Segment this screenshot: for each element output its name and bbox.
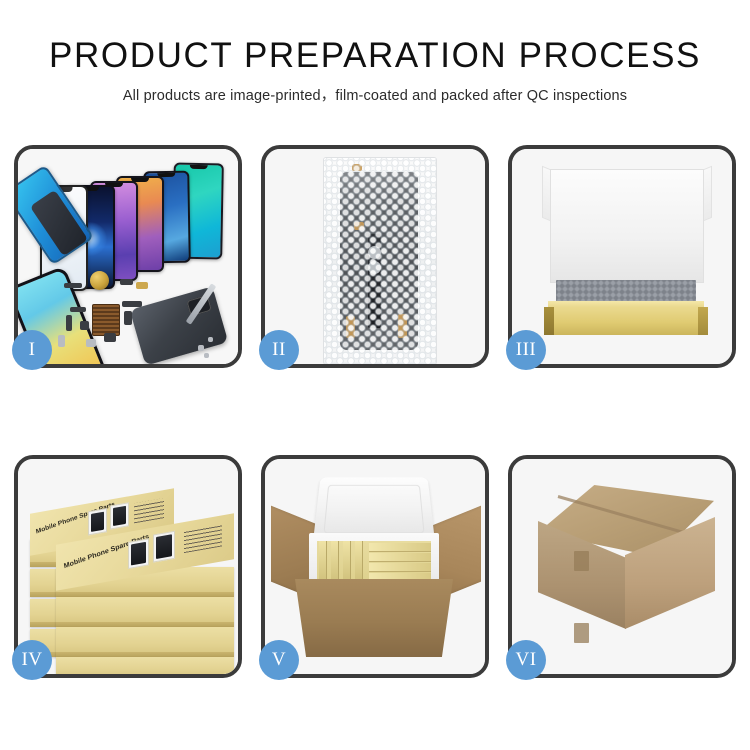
box-window-front-a — [128, 538, 149, 569]
box-window-front-b — [153, 531, 175, 563]
box-window-rear-b — [110, 502, 129, 529]
styrofoam-lid — [313, 477, 435, 540]
process-step-6[interactable]: VI — [508, 455, 736, 678]
carton-tape-upper — [574, 551, 589, 571]
part-flex-small — [120, 279, 133, 285]
page-subtitle: All products are image-printed，film-coat… — [0, 84, 750, 105]
step-1-image — [18, 149, 238, 364]
part-screw-b — [208, 337, 213, 342]
part-earpiece — [104, 333, 116, 342]
part-ribbon-cable — [122, 301, 142, 307]
box-white-foam-lid — [550, 169, 704, 283]
process-step-3[interactable]: III — [508, 145, 736, 368]
part-bracket-a — [70, 307, 86, 312]
stack-box-f3 — [56, 627, 234, 657]
box-stack: Mobile Phone Spare Parts Mobile Phone Sp… — [28, 475, 236, 671]
gold-coil-part — [90, 271, 109, 290]
bubble-texture — [324, 158, 436, 364]
page-title: PRODUCT PREPARATION PROCESS — [0, 38, 750, 73]
carton-body — [295, 579, 453, 657]
box-spec-lines-front — [184, 524, 222, 553]
part-camera-module — [80, 321, 89, 330]
part-gold-contact — [136, 282, 148, 289]
step-6-image — [512, 459, 732, 674]
step-5-image — [265, 459, 485, 674]
step-3-image — [512, 149, 732, 364]
step-badge-2: II — [259, 330, 299, 370]
bubble-wrap-bag — [323, 157, 437, 364]
box-spec-lines-rear — [134, 498, 164, 523]
step-badge-4: IV — [12, 640, 52, 680]
part-screw-a — [198, 345, 204, 351]
process-step-1[interactable]: I — [14, 145, 242, 368]
page-header: PRODUCT PREPARATION PROCESS All products… — [0, 0, 750, 105]
chip-array-part — [92, 304, 120, 336]
packed-retail-boxes — [317, 541, 431, 583]
stack-box-f4 — [56, 657, 234, 674]
part-speaker-mesh — [64, 283, 82, 288]
step-badge-5: V — [259, 640, 299, 680]
step-badge-1: I — [12, 330, 52, 370]
part-button-flex — [124, 311, 132, 325]
box-window-rear-a — [88, 508, 107, 535]
part-taptic-engine — [86, 339, 96, 347]
carton-tape-lower — [574, 623, 589, 643]
part-screw-c — [204, 353, 209, 358]
process-step-4[interactable]: Mobile Phone Spare Parts Mobile Phone Sp… — [14, 455, 242, 678]
step-badge-6: VI — [506, 640, 546, 680]
step-4-image: Mobile Phone Spare Parts Mobile Phone Sp… — [18, 459, 238, 674]
step-2-image — [265, 149, 485, 364]
part-bracket-b — [66, 315, 72, 331]
process-step-5[interactable]: V — [261, 455, 489, 678]
process-step-grid: I II III — [14, 145, 736, 678]
process-step-2[interactable]: II — [261, 145, 489, 368]
stack-box-f2 — [56, 597, 234, 627]
step-badge-3: III — [506, 330, 546, 370]
box-kraft-body — [544, 307, 708, 335]
part-sim-tray — [58, 335, 65, 347]
